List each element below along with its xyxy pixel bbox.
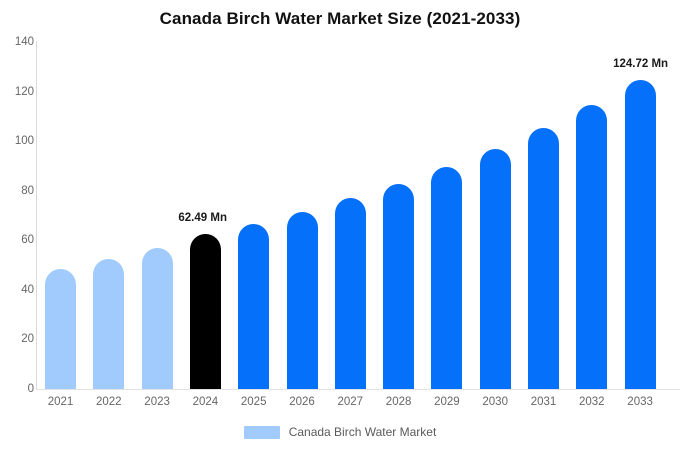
value-label-2024: 62.49 Mn — [178, 212, 227, 224]
legend-label: Canada Birch Water Market — [289, 425, 437, 439]
chart-legend: Canada Birch Water Market — [0, 425, 680, 439]
bar-2022[interactable] — [93, 259, 124, 389]
bar-series — [0, 0, 680, 450]
bar-2021[interactable] — [45, 269, 76, 389]
value-label-2033: 124.72 Mn — [613, 58, 668, 70]
bar-2033[interactable] — [625, 80, 656, 389]
bar-2031[interactable] — [528, 128, 559, 389]
bar-2028[interactable] — [383, 184, 414, 389]
legend-swatch-icon — [244, 426, 280, 439]
bar-2023[interactable] — [142, 248, 173, 389]
bar-2032[interactable] — [576, 105, 607, 389]
chart-container: Canada Birch Water Market Size (2021-203… — [0, 0, 680, 450]
bar-2030[interactable] — [480, 149, 511, 389]
bar-2024[interactable] — [190, 234, 221, 389]
bar-2027[interactable] — [335, 198, 366, 389]
x-axis-tick-2033: 2033 — [610, 396, 670, 408]
bar-2029[interactable] — [431, 167, 462, 389]
bar-2026[interactable] — [287, 212, 318, 389]
legend-item-0[interactable]: Canada Birch Water Market — [244, 425, 437, 439]
bar-2025[interactable] — [238, 224, 269, 389]
